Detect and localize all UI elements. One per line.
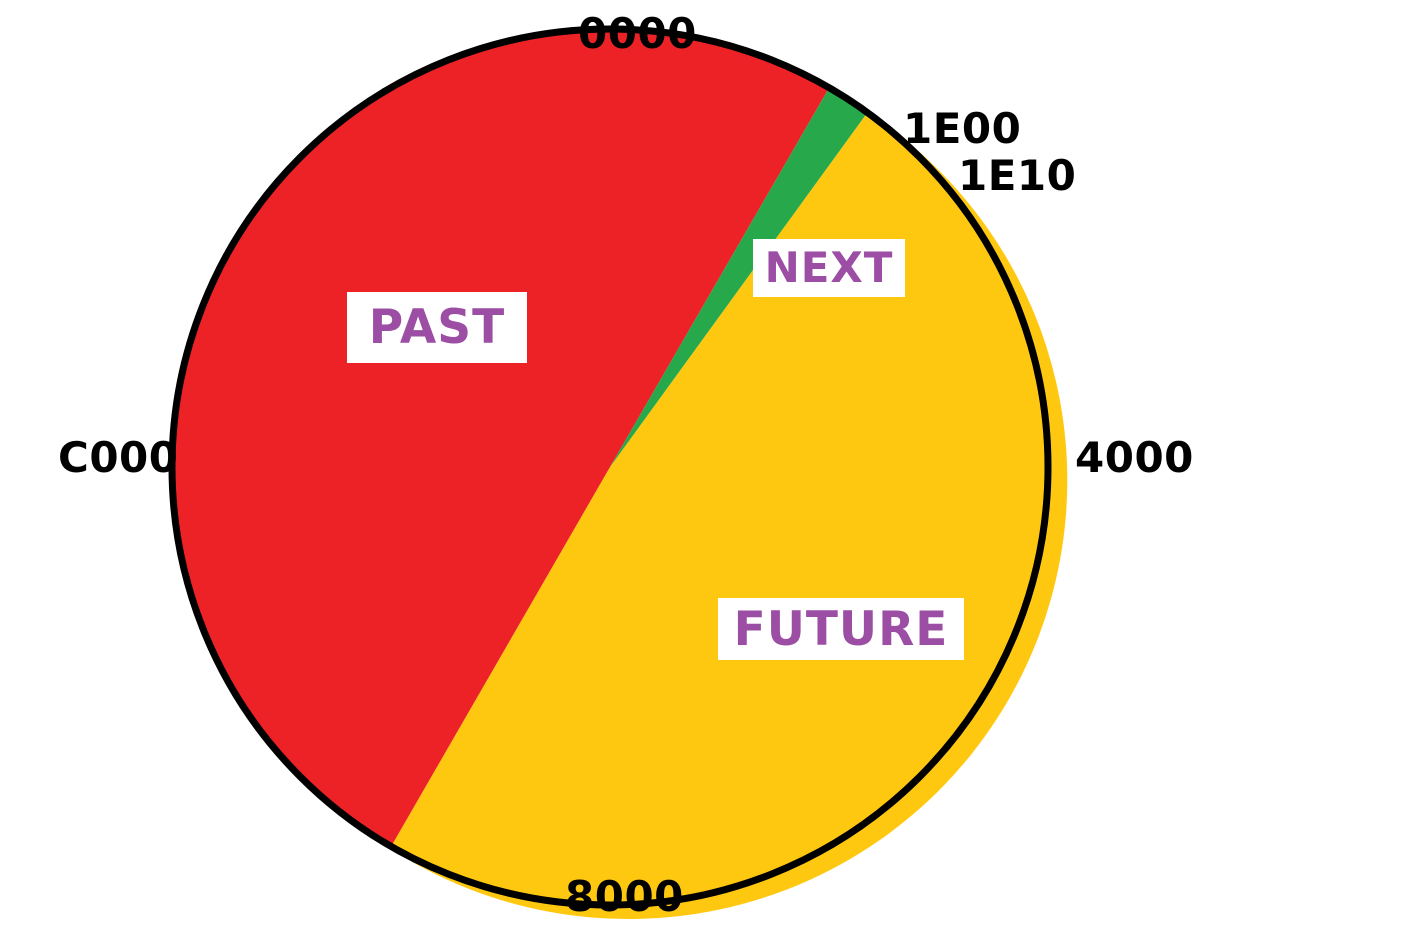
tick-label-1e10: 1E10 [958, 155, 1076, 197]
tick-label-c000: C000 [58, 437, 179, 479]
diagram-canvas: 0000 1E00 1E10 4000 8000 C000 PAST NEXT … [0, 0, 1404, 949]
region-label-future: FUTURE [718, 598, 964, 660]
tick-label-8000: 8000 [565, 876, 684, 918]
region-label-past: PAST [347, 292, 527, 363]
tick-label-1e00: 1E00 [903, 108, 1021, 150]
tick-label-0000: 0000 [578, 13, 697, 55]
tick-label-4000: 4000 [1075, 437, 1194, 479]
region-label-next: NEXT [753, 239, 905, 297]
